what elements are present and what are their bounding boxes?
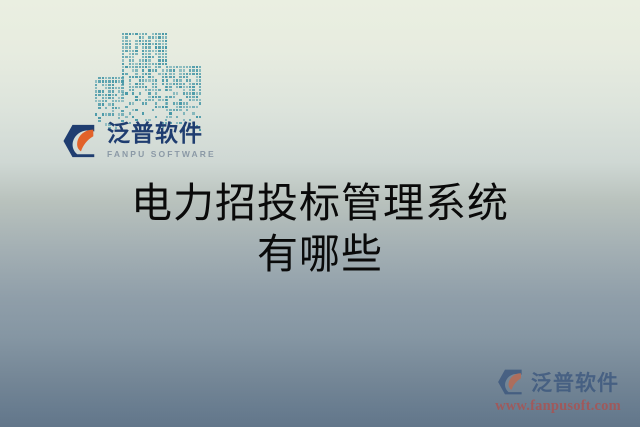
brand-name-chinese: 泛普软件 (107, 123, 216, 146)
pixel-city-skyline-graphic (95, 33, 205, 125)
brand-logo-wordmark: 泛普软件 FANPU SOFTWARE (107, 123, 216, 159)
page-title-line-2: 有哪些 (0, 229, 640, 280)
watermark-brand-name: 泛普软件 (531, 367, 619, 397)
watermark: 泛普软件 www.fanpusoft.com (484, 367, 632, 415)
watermark-website-url: www.fanpusoft.com (484, 398, 632, 415)
brand-logo: 泛普软件 FANPU SOFTWARE (62, 123, 216, 159)
promotional-banner: 泛普软件 FANPU SOFTWARE 电力招投标管理系统 有哪些 泛普软件 w… (0, 0, 640, 427)
watermark-logo-row: 泛普软件 (484, 367, 632, 397)
fanpu-hexagon-swoosh-logo-icon (62, 123, 100, 159)
page-title-line-1: 电力招投标管理系统 (0, 178, 640, 229)
brand-name-english: FANPU SOFTWARE (107, 150, 216, 159)
page-title: 电力招投标管理系统 有哪些 (0, 178, 640, 280)
fanpu-hexagon-swoosh-logo-watermark-icon (497, 368, 526, 396)
